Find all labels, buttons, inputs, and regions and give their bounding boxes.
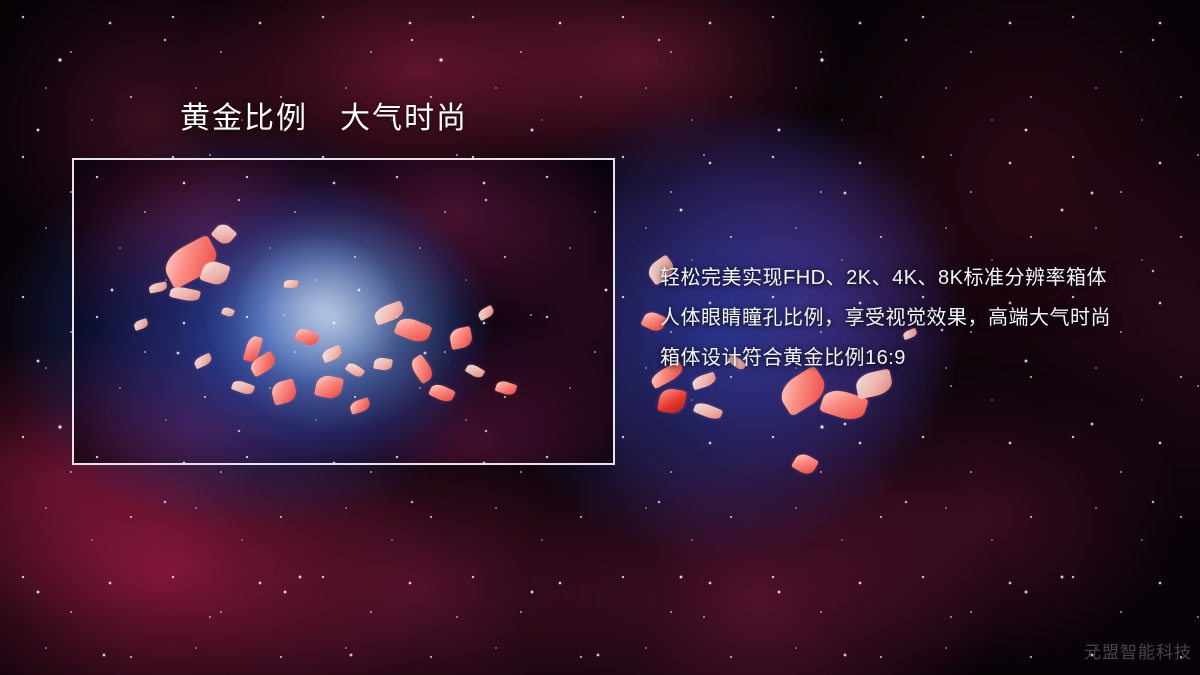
description-line-1: 轻松完美实现FHD、2K、4K、8K标准分辨率箱体 xyxy=(660,258,1170,298)
description-text-block: 轻松完美实现FHD、2K、4K、8K标准分辨率箱体 人体眼睛瞳孔比例，享受视觉效… xyxy=(660,258,1170,378)
watermark: 元盟智能科技 xyxy=(1084,638,1192,663)
description-line-2: 人体眼睛瞳孔比例，享受视觉效果，高端大气时尚 xyxy=(660,298,1170,338)
framed-photo xyxy=(72,158,615,465)
photo-content xyxy=(74,160,613,463)
description-line-3: 箱体设计符合黄金比例16:9 xyxy=(660,338,1170,378)
presentation-slide: 黄金比例 大气时尚 轻松完美实现FHD、2K、4K、8K标准分辨率箱体 人体眼睛… xyxy=(0,0,1200,675)
page-title: 黄金比例 大气时尚 xyxy=(180,100,468,138)
